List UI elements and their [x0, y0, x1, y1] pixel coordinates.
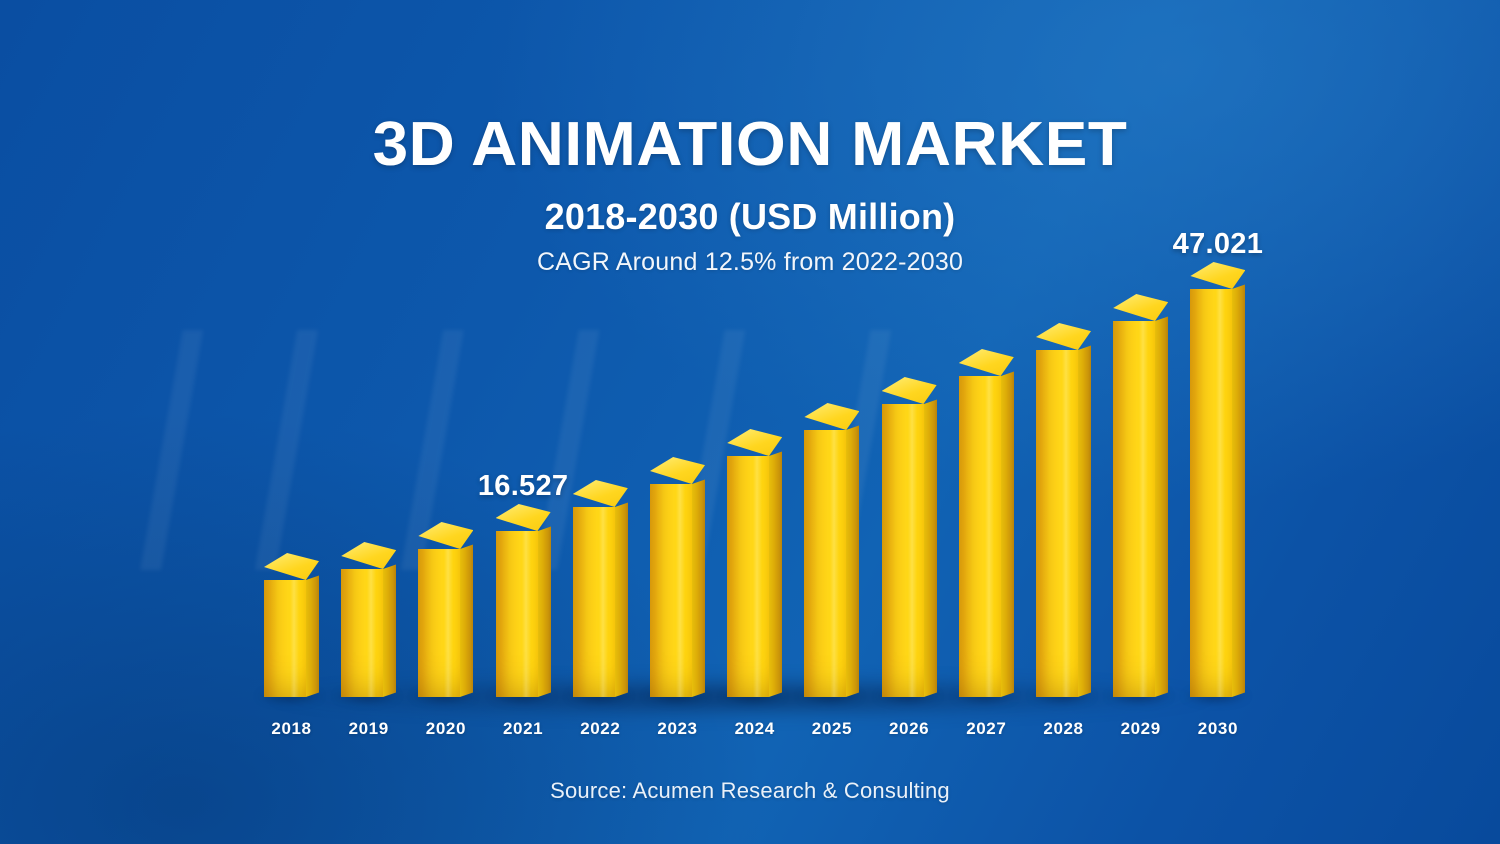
bar-2022[interactable]: 2022 [573, 507, 628, 697]
bar-side-face [538, 527, 551, 697]
bar-side-face [846, 426, 859, 697]
bar-front-face [264, 580, 306, 697]
bar-top-face [1036, 323, 1091, 350]
bar-side-face [1078, 346, 1091, 697]
bar-side-face [1155, 317, 1168, 697]
x-axis-label-2027: 2027 [966, 719, 1006, 739]
bar-front-face [1036, 350, 1078, 697]
bar-side-face [924, 400, 937, 697]
x-axis-label-2029: 2029 [1121, 719, 1161, 739]
x-axis-label-2019: 2019 [349, 719, 389, 739]
bar-front-face [418, 549, 460, 697]
bar-side-face [1232, 285, 1245, 697]
bar-chart-plot-area: 20182019202016.5272021202220232024202520… [0, 0, 1500, 844]
bar-side-face [1001, 372, 1014, 697]
bar-side-face [306, 576, 319, 697]
bar-side-face [769, 452, 782, 697]
source-attribution: Source: Acumen Research & Consulting [0, 778, 1500, 804]
x-axis-label-2028: 2028 [1043, 719, 1083, 739]
x-axis-label-2020: 2020 [426, 719, 466, 739]
bar-top-face [573, 480, 628, 507]
bar-2024[interactable]: 2024 [727, 456, 782, 697]
bar-2029[interactable]: 2029 [1113, 321, 1168, 697]
bar-2027[interactable]: 2027 [959, 376, 1014, 697]
bar-top-face [959, 349, 1014, 376]
bar-front-face [1190, 289, 1232, 697]
bar-2021[interactable]: 16.5272021 [496, 531, 551, 697]
bar-front-face [650, 484, 692, 697]
bar-2028[interactable]: 2028 [1036, 350, 1091, 697]
bar-2018[interactable]: 2018 [264, 580, 319, 697]
bar-top-face [1113, 294, 1168, 321]
bar-side-face [460, 545, 473, 697]
x-axis-label-2018: 2018 [271, 719, 311, 739]
x-axis-label-2021: 2021 [503, 719, 543, 739]
bar-front-face [341, 569, 383, 697]
x-axis-label-2030: 2030 [1198, 719, 1238, 739]
bar-top-face [650, 457, 705, 484]
x-axis-label-2024: 2024 [735, 719, 775, 739]
bar-2020[interactable]: 2020 [418, 549, 473, 697]
bar-value-label-2021: 16.527 [478, 470, 569, 503]
bar-top-face [1190, 262, 1245, 289]
bar-top-face [496, 504, 551, 531]
bar-front-face [959, 376, 1001, 697]
bar-side-face [692, 480, 705, 697]
bar-2023[interactable]: 2023 [650, 484, 705, 697]
bar-side-face [615, 503, 628, 697]
bar-2026[interactable]: 2026 [882, 404, 937, 697]
bar-2025[interactable]: 2025 [804, 430, 859, 697]
bar-value-label-2030: 47.021 [1173, 228, 1264, 261]
x-axis-label-2026: 2026 [889, 719, 929, 739]
bar-top-face [727, 429, 782, 456]
bar-front-face [882, 404, 924, 697]
x-axis-label-2023: 2023 [657, 719, 697, 739]
bar-top-face [882, 377, 937, 404]
bar-front-face [1113, 321, 1155, 697]
bar-2019[interactable]: 2019 [341, 569, 396, 697]
bar-front-face [727, 456, 769, 697]
bar-front-face [496, 531, 538, 697]
bar-2030[interactable]: 47.0212030 [1190, 289, 1245, 697]
bar-front-face [804, 430, 846, 697]
bar-top-face [418, 522, 473, 549]
x-axis-label-2022: 2022 [580, 719, 620, 739]
bar-top-face [804, 403, 859, 430]
bar-top-face [341, 542, 396, 569]
bar-front-face [573, 507, 615, 697]
infographic-canvas: 3D ANIMATION MARKET 2018-2030 (USD Milli… [0, 0, 1500, 844]
bar-top-face [264, 553, 319, 580]
x-axis-label-2025: 2025 [812, 719, 852, 739]
bar-side-face [383, 565, 396, 697]
